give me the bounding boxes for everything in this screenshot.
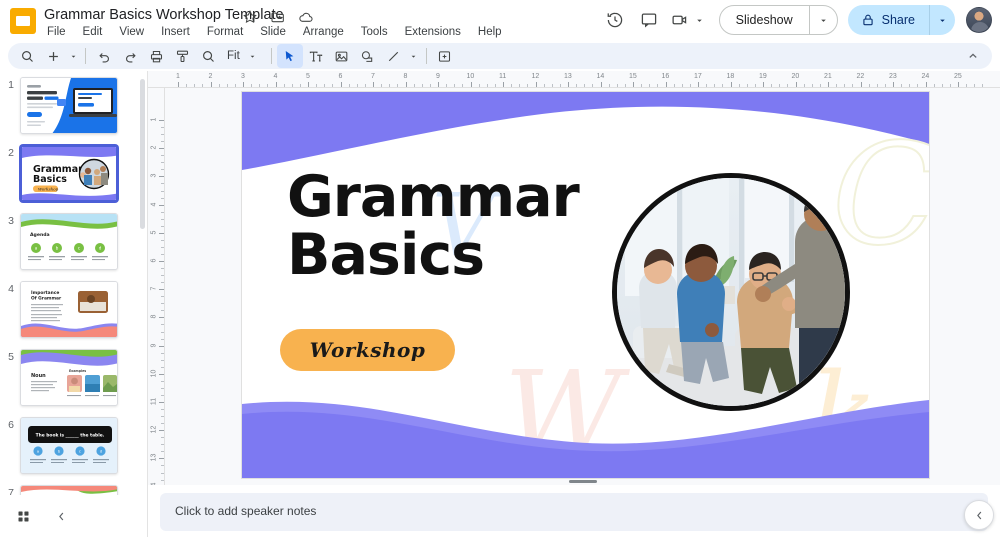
top-right-controls: Slideshow Share bbox=[599, 4, 992, 36]
slide-number: 5 bbox=[0, 349, 20, 417]
workshop-badge[interactable]: Workshop bbox=[280, 329, 455, 371]
toolbar-divider-2 bbox=[271, 48, 272, 64]
avatar[interactable] bbox=[966, 7, 992, 33]
svg-text:Examples: Examples bbox=[69, 369, 86, 373]
menu-extensions[interactable]: Extensions bbox=[402, 25, 464, 39]
paint-format-icon[interactable] bbox=[169, 44, 195, 68]
filmstrip-slide[interactable]: 1 bbox=[0, 77, 148, 145]
bottom-left-controls bbox=[0, 495, 148, 537]
move-to-folder-icon[interactable] bbox=[270, 9, 286, 25]
ruler-h-label: 17 bbox=[694, 73, 702, 80]
ruler-h-label: 9 bbox=[436, 73, 440, 80]
speaker-notes-input[interactable]: Click to add speaker notes bbox=[160, 493, 988, 531]
svg-text:a: a bbox=[37, 449, 39, 453]
ruler-h-label: 8 bbox=[404, 73, 408, 80]
ruler-v-label: 13 bbox=[151, 452, 158, 464]
speaker-notes-placeholder: Click to add speaker notes bbox=[175, 504, 316, 518]
filmstrip-slide[interactable]: 5 Noun Examples bbox=[0, 349, 148, 417]
slide-number: 7 bbox=[0, 485, 20, 495]
select-tool-icon[interactable] bbox=[277, 44, 303, 68]
redo-icon[interactable] bbox=[117, 44, 143, 68]
speaker-notes-bar: Click to add speaker notes bbox=[148, 488, 1000, 537]
ruler-h-label: 13 bbox=[564, 73, 572, 80]
slide-number: 1 bbox=[0, 77, 20, 145]
ruler-h-label: 18 bbox=[727, 73, 735, 80]
ruler-h-label: 20 bbox=[792, 73, 800, 80]
svg-text:b: b bbox=[56, 246, 59, 251]
new-slide-dropdown-icon[interactable] bbox=[66, 52, 80, 61]
ruler-h-label: 16 bbox=[662, 73, 670, 80]
explore-panel-button[interactable] bbox=[964, 500, 994, 530]
ruler-v-label: 4 bbox=[151, 198, 158, 210]
zoom-icon[interactable] bbox=[195, 44, 221, 68]
ruler-v-label: 11 bbox=[151, 396, 158, 408]
collapse-filmstrip-icon[interactable] bbox=[48, 503, 74, 529]
share-dropdown-icon[interactable] bbox=[929, 5, 955, 35]
ruler-h-label: 6 bbox=[339, 73, 343, 80]
main-toolbar: Fit bbox=[8, 43, 992, 69]
ruler-h-label: 5 bbox=[306, 73, 310, 80]
ruler-v-label: 5 bbox=[151, 226, 158, 238]
menu-format[interactable]: Format bbox=[204, 25, 246, 39]
ruler-v-label: 14 bbox=[151, 480, 158, 485]
menu-tools[interactable]: Tools bbox=[358, 25, 391, 39]
slide-canvas-area[interactable]: C V W k Grammar Basics Workshop bbox=[165, 88, 1000, 485]
text-box-icon[interactable] bbox=[303, 44, 329, 68]
toolbar-divider-3 bbox=[426, 48, 427, 64]
cloud-saved-icon[interactable] bbox=[298, 9, 314, 25]
ruler-h-label: 25 bbox=[954, 73, 962, 80]
slide-number: 3 bbox=[0, 213, 20, 281]
ruler-h-label: 24 bbox=[922, 73, 930, 80]
ruler-h-label: 19 bbox=[759, 73, 767, 80]
slide-thumbnail[interactable]: Importance Of Grammar bbox=[20, 281, 118, 338]
comment-icon[interactable] bbox=[633, 4, 665, 36]
ruler-v-label: 3 bbox=[151, 170, 158, 182]
toolbar-divider bbox=[85, 48, 86, 64]
slide-number: 6 bbox=[0, 417, 20, 485]
svg-text:Workshop: Workshop bbox=[38, 186, 59, 191]
canvas-resize-handle[interactable] bbox=[569, 480, 597, 483]
undo-icon[interactable] bbox=[91, 44, 117, 68]
filmstrip-slide[interactable]: 4 Importance Of Grammar bbox=[0, 281, 148, 349]
slide-title-line2: Basics bbox=[287, 226, 617, 284]
share-label: Share bbox=[882, 13, 915, 27]
filmstrip-slide[interactable]: 2 Grammar Basics Workshop bbox=[0, 145, 148, 213]
line-dropdown-icon[interactable] bbox=[407, 52, 421, 61]
horizontal-ruler[interactable]: 1234567891011121314151617181920212223242… bbox=[148, 71, 1000, 88]
svg-text:d: d bbox=[99, 246, 102, 251]
menu-help[interactable]: Help bbox=[475, 25, 505, 39]
svg-text:Importance: Importance bbox=[31, 290, 59, 296]
new-slide-icon[interactable] bbox=[40, 44, 66, 68]
ruler-h-label: 3 bbox=[241, 73, 245, 80]
menu-edit[interactable]: Edit bbox=[80, 25, 106, 39]
svg-text:Noun: Noun bbox=[31, 373, 46, 379]
ruler-h-label: 11 bbox=[499, 73, 506, 80]
ruler-v-label: 2 bbox=[151, 142, 158, 154]
ruler-v-label: 8 bbox=[151, 311, 158, 323]
vertical-ruler[interactable]: 1234567891011121314 bbox=[148, 88, 165, 485]
slide-thumbnail[interactable]: Noun Examples bbox=[20, 349, 118, 406]
shape-icon[interactable] bbox=[355, 44, 381, 68]
filmstrip-slide[interactable]: 6 The book is ______ the table. ab cd bbox=[0, 417, 148, 485]
filmstrip-slide[interactable]: 7 bbox=[0, 485, 148, 495]
svg-text:Basics: Basics bbox=[33, 174, 67, 185]
slideshow-button-group: Slideshow bbox=[719, 5, 838, 35]
chevron-up-icon[interactable] bbox=[960, 44, 986, 68]
ruler-v-label: 6 bbox=[151, 255, 158, 267]
svg-text:Agenda: Agenda bbox=[30, 232, 50, 238]
ruler-h-label: 23 bbox=[889, 73, 897, 80]
workshop-badge-label: Workshop bbox=[310, 338, 426, 362]
add-comment-icon[interactable] bbox=[432, 44, 458, 68]
present-video-icon[interactable] bbox=[667, 4, 709, 36]
svg-text:c: c bbox=[79, 449, 81, 453]
grid-view-icon[interactable] bbox=[10, 503, 36, 529]
ruler-h-label: 14 bbox=[597, 73, 605, 80]
slides-logo-icon[interactable] bbox=[10, 8, 36, 34]
lock-icon bbox=[861, 13, 875, 27]
slide-thumbnail[interactable]: Grammar Basics Workshop bbox=[20, 145, 118, 202]
slideshow-button[interactable]: Slideshow bbox=[720, 6, 809, 34]
menu-view[interactable]: View bbox=[116, 25, 147, 39]
current-slide[interactable]: C V W k Grammar Basics Workshop bbox=[242, 92, 929, 478]
zoom-dropdown-icon[interactable] bbox=[246, 52, 260, 61]
ruler-h-label: 1 bbox=[176, 73, 180, 80]
star-icon[interactable] bbox=[242, 9, 258, 25]
ruler-h-label: 4 bbox=[274, 73, 278, 80]
slides-app-window: Grammar Basics Workshop Template File bbox=[0, 0, 1000, 537]
version-history-icon[interactable] bbox=[599, 4, 631, 36]
menu-file[interactable]: File bbox=[44, 25, 69, 39]
ruler-v-label: 10 bbox=[151, 367, 158, 379]
print-icon[interactable] bbox=[143, 44, 169, 68]
slide-number: 4 bbox=[0, 281, 20, 349]
workshop-photo-image bbox=[617, 178, 845, 406]
ruler-v-label: 12 bbox=[151, 424, 158, 436]
svg-text:Of Grammar: Of Grammar bbox=[31, 296, 62, 302]
search-icon[interactable] bbox=[14, 44, 40, 68]
bottom-wave-decoration bbox=[242, 386, 929, 478]
slideshow-dropdown-icon[interactable] bbox=[809, 6, 837, 34]
menu-slide[interactable]: Slide bbox=[257, 25, 289, 39]
ruler-h-label: 12 bbox=[532, 73, 540, 80]
slide-filmstrip[interactable]: 1 2 bbox=[0, 71, 148, 495]
ruler-v-label: 7 bbox=[151, 283, 158, 295]
share-button-group: Share bbox=[848, 5, 955, 35]
ruler-h-label: 7 bbox=[371, 73, 375, 80]
ruler-h-label: 22 bbox=[857, 73, 865, 80]
slide-thumbnail[interactable]: Agenda ab cd bbox=[20, 213, 118, 270]
insert-image-icon[interactable] bbox=[329, 44, 355, 68]
menu-arrange[interactable]: Arrange bbox=[300, 25, 347, 39]
ruler-h-label: 2 bbox=[209, 73, 213, 80]
svg-text:The book is ______ the table.: The book is ______ the table. bbox=[36, 433, 105, 439]
ruler-v-label: 1 bbox=[151, 114, 158, 126]
svg-text:c: c bbox=[78, 246, 80, 251]
ruler-v-label: 9 bbox=[151, 339, 158, 351]
title-icon-group bbox=[242, 9, 314, 25]
menu-bar: File Edit View Insert Format Slide Arran… bbox=[44, 25, 505, 39]
zoom-level-label[interactable]: Fit bbox=[221, 50, 246, 62]
ruler-h-label: 15 bbox=[629, 73, 637, 80]
slide-thumbnail[interactable]: The book is ______ the table. ab cd bbox=[20, 417, 118, 474]
line-icon[interactable] bbox=[381, 44, 407, 68]
slide-thumbnail[interactable] bbox=[20, 485, 118, 495]
slide-thumbnail[interactable] bbox=[20, 77, 118, 134]
slide-number: 2 bbox=[0, 145, 20, 213]
workshop-photo[interactable] bbox=[612, 173, 850, 411]
svg-text:d: d bbox=[100, 449, 102, 453]
menu-insert[interactable]: Insert bbox=[158, 25, 193, 39]
ruler-h-label: 10 bbox=[467, 73, 475, 80]
slide-title[interactable]: Grammar Basics bbox=[287, 168, 617, 284]
share-button[interactable]: Share bbox=[848, 5, 929, 35]
slide-title-line1: Grammar bbox=[287, 168, 617, 226]
title-bar: Grammar Basics Workshop Template File bbox=[0, 0, 1000, 42]
filmstrip-slide[interactable]: 3 Agenda ab cd bbox=[0, 213, 148, 281]
ruler-h-label: 21 bbox=[824, 73, 832, 80]
